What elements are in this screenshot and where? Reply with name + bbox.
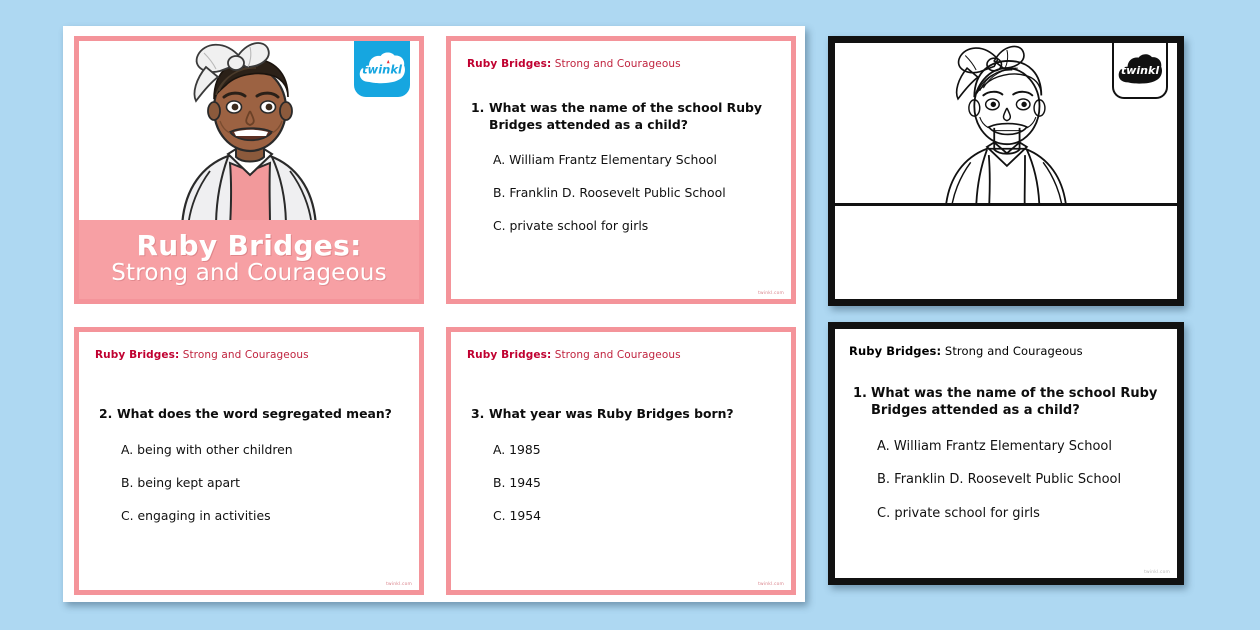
twinkl-logo-icon: twinkl: [1112, 43, 1168, 99]
ruby-bridges-portrait-lineart-icon: [888, 43, 1124, 206]
svg-text:twinkl: twinkl: [1121, 64, 1159, 77]
twinkl-watermark: twinkl.com: [758, 582, 784, 587]
card-header: Ruby Bridges: Strong and Courageous: [849, 344, 1177, 358]
card-header-bold: Ruby Bridges:: [467, 349, 551, 361]
title-card-illustration-area: twinkl: [79, 41, 419, 222]
twinkl-cloud-icon: twinkl: [1117, 52, 1163, 88]
twinkl-cloud-icon: twinkl: [358, 50, 406, 88]
card-header-bold: Ruby Bridges:: [467, 58, 551, 70]
question-body: 3. What year was Ruby Bridges born? A. 1…: [451, 406, 791, 524]
option-c[interactable]: C. private school for girls: [493, 218, 775, 234]
card-header: Ruby Bridges: Strong and Courageous: [467, 349, 791, 361]
option-a[interactable]: A. William Frantz Elementary School: [877, 439, 1163, 456]
question-line: 1. What was the name of the school Ruby …: [849, 385, 1163, 420]
question-line: 2. What does the word segregated mean?: [95, 406, 403, 423]
question-text: What year was Ruby Bridges born?: [489, 406, 775, 423]
title-banner: Ruby Bridges: Strong and Courageous: [79, 220, 419, 299]
twinkl-logo-icon: twinkl: [354, 41, 410, 97]
card-header-bold: Ruby Bridges:: [95, 349, 179, 361]
question-line: 3. What year was Ruby Bridges born?: [467, 406, 775, 423]
question-card-2[interactable]: Ruby Bridges: Strong and Courageous 2. W…: [74, 327, 424, 595]
option-a[interactable]: A. being with other children: [121, 442, 403, 458]
question-line: 1. What was the name of the school Ruby …: [467, 100, 775, 133]
card-header-normal: Strong and Courageous: [551, 58, 680, 70]
question-card-1-blackwhite[interactable]: Ruby Bridges: Strong and Courageous 1. W…: [828, 322, 1184, 585]
option-b[interactable]: B. Franklin D. Roosevelt Public School: [493, 185, 775, 201]
title-card-colour[interactable]: twinkl Ruby Bridges: Strong and Courageo…: [74, 36, 424, 304]
question-number: 2.: [95, 406, 117, 423]
question-card-3[interactable]: Ruby Bridges: Strong and Courageous 3. W…: [446, 327, 796, 595]
option-c[interactable]: C. 1954: [493, 508, 775, 524]
ruby-bridges-portrait-colour-icon: [124, 41, 374, 222]
option-a[interactable]: A. William Frantz Elementary School: [493, 152, 775, 168]
printable-sheet-colour: twinkl Ruby Bridges: Strong and Courageo…: [63, 26, 805, 602]
question-text: What does the word segregated mean?: [117, 406, 403, 423]
question-number: 1.: [467, 100, 489, 117]
card-header: Ruby Bridges: Strong and Courageous: [467, 58, 791, 70]
card-header: Ruby Bridges: Strong and Courageous: [95, 349, 419, 361]
twinkl-watermark: twinkl.com: [1144, 570, 1170, 575]
card-grid: twinkl Ruby Bridges: Strong and Courageo…: [72, 31, 796, 597]
title-card-illustration-area-bw: twinkl: [835, 43, 1177, 206]
card-header-normal: Strong and Courageous: [179, 349, 308, 361]
option-b[interactable]: B. Franklin D. Roosevelt Public School: [877, 472, 1163, 489]
twinkl-watermark: twinkl.com: [386, 582, 412, 587]
question-body: 2. What does the word segregated mean? A…: [79, 406, 419, 524]
title-line-1: Ruby Bridges:: [891, 302, 1120, 306]
question-text: What was the name of the school Ruby Bri…: [871, 385, 1163, 420]
question-body: 1. What was the name of the school Ruby …: [451, 100, 791, 234]
twinkl-watermark: twinkl.com: [758, 291, 784, 296]
question-body: 1. What was the name of the school Ruby …: [835, 385, 1177, 523]
option-a[interactable]: A. 1985: [493, 442, 775, 458]
option-c[interactable]: C. engaging in activities: [121, 508, 403, 524]
question-card-1[interactable]: Ruby Bridges: Strong and Courageous 1. W…: [446, 36, 796, 304]
title-banner-bw: Ruby Bridges: Strong and Courageous: [835, 206, 1177, 306]
card-header-normal: Strong and Courageous: [941, 344, 1083, 358]
question-text: What was the name of the school Ruby Bri…: [489, 100, 775, 133]
option-c[interactable]: C. private school for girls: [877, 506, 1163, 523]
question-number: 3.: [467, 406, 489, 423]
title-line-2: Strong and Courageous: [111, 261, 387, 286]
option-b[interactable]: B. 1945: [493, 475, 775, 491]
card-header-normal: Strong and Courageous: [551, 349, 680, 361]
question-number: 1.: [849, 385, 871, 402]
card-header-bold: Ruby Bridges:: [849, 344, 941, 358]
svg-text:twinkl: twinkl: [362, 62, 403, 76]
title-card-blackwhite[interactable]: twinkl Ruby Bridges: Strong and Courageo…: [828, 36, 1184, 306]
option-b[interactable]: B. being kept apart: [121, 475, 403, 491]
title-line-1: Ruby Bridges:: [136, 231, 361, 260]
